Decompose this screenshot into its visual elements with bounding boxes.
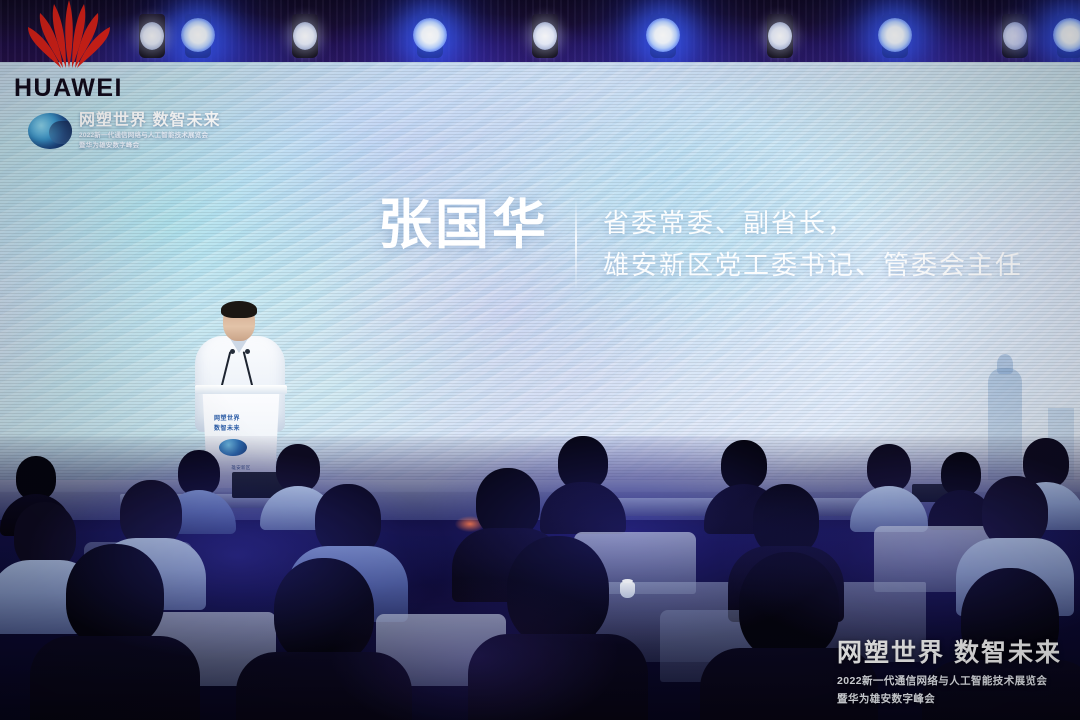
speaker-hair	[221, 301, 257, 318]
speaker-name: 张国华	[378, 196, 549, 255]
speaker-title-line2: 雄安新区党工委书记、管委会主任	[603, 244, 1023, 286]
stage-lighting-truss	[0, 0, 1080, 64]
huawei-flower-logo-icon	[14, 0, 124, 74]
event-title: 网塑世界 数智未来	[79, 113, 220, 129]
event-logo-lockup: 网塑世界 数智未来 2022新一代通信网络与人工智能技术展览会 暨华为雄安数字峰…	[28, 113, 220, 149]
speaker-titles: 省委常委、副省长， 雄安新区党工委书记、管委会主任	[603, 196, 1023, 286]
microphone-head-icon	[230, 349, 235, 354]
speaker-identification-block: 张国华 省委常委、副省长， 雄安新区党工委书记、管委会主任	[378, 196, 1023, 288]
podium-sign-line1: 网塑世界	[185, 413, 269, 422]
huawei-wordmark: HUAWEI	[14, 74, 123, 103]
event-globe-icon	[28, 113, 72, 149]
event-subtitle-line1: 2022新一代通信网络与人工智能技术展览会	[79, 133, 220, 140]
watermark-subtitle-line2: 暨华为雄安数字峰会	[837, 691, 1062, 706]
event-watermark: 网塑世界 数智未来 2022新一代通信网络与人工智能技术展览会 暨华为雄安数字峰…	[837, 639, 1062, 706]
event-subtitle-line2: 暨华为雄安数字峰会	[79, 143, 220, 150]
microphone-head-icon	[245, 349, 250, 354]
speaker-title-line1: 省委常委、副省长，	[603, 202, 1023, 244]
name-title-divider	[575, 200, 577, 288]
watermark-title: 网塑世界 数智未来	[837, 639, 1062, 668]
podium-top-surface	[195, 385, 287, 394]
podium-sign-line2: 数智未来	[185, 423, 269, 432]
conference-stage-photo: HUAWEI 网塑世界 数智未来 2022新一代通信网络与人工智能技术展览会 暨…	[0, 0, 1080, 720]
watermark-subtitle-line1: 2022新一代通信网络与人工智能技术展览会	[837, 673, 1062, 688]
